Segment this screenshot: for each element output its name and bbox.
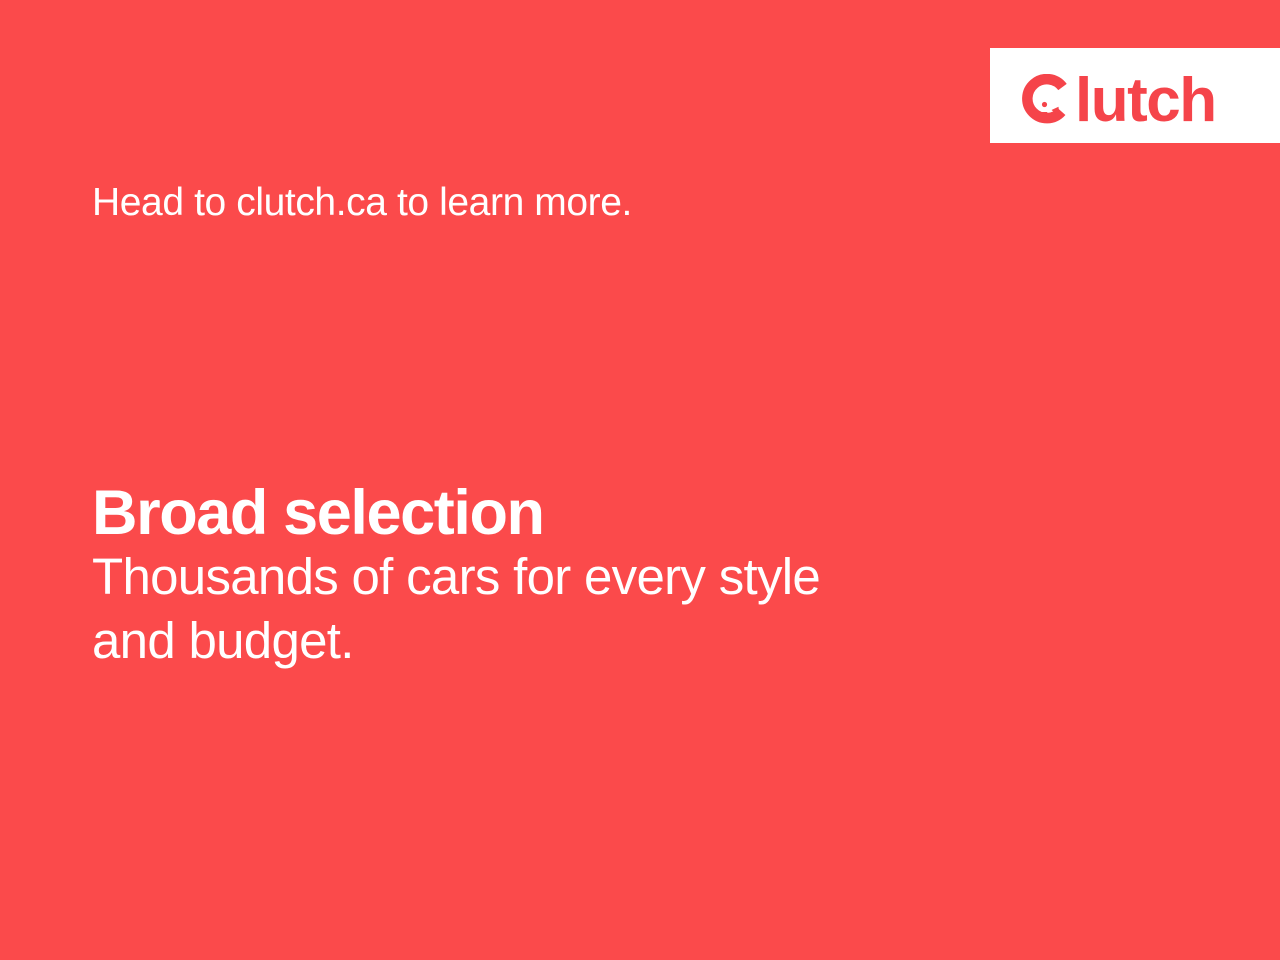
clutch-c-mark-icon xyxy=(1020,74,1072,126)
page-title: Broad selection xyxy=(92,479,544,548)
clutch-wordmark-text: lutch xyxy=(1075,76,1216,127)
brand-logo-plate[interactable]: lutch xyxy=(990,48,1280,143)
kicker-text: Head to clutch.ca to learn more. xyxy=(92,181,632,226)
subcopy-line-1: Thousands of cars for every style xyxy=(92,545,1052,609)
subcopy-line-2: and budget. xyxy=(92,609,1052,673)
subcopy-block: Thousands of cars for every style and bu… xyxy=(92,545,1052,674)
clutch-logo-lockup[interactable]: lutch xyxy=(1020,65,1216,127)
promo-slide: lutch Head to clutch.ca to learn more. B… xyxy=(0,0,1280,960)
